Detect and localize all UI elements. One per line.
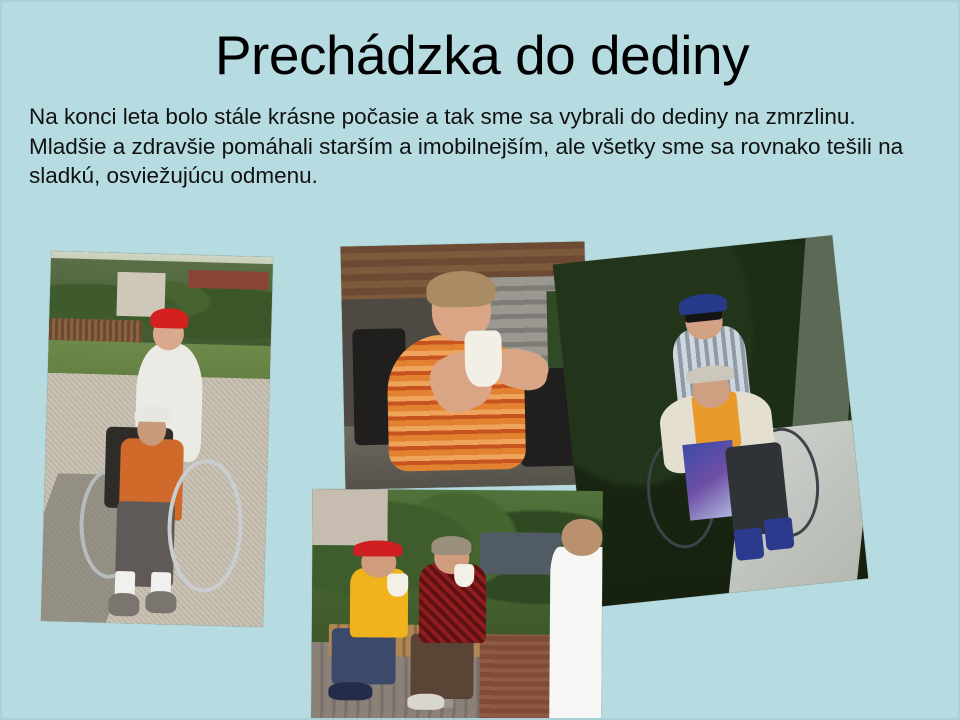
boot-right bbox=[763, 517, 794, 551]
icecream-cone-icon bbox=[464, 331, 502, 388]
photo-2-scene bbox=[340, 241, 589, 489]
sandal-right bbox=[145, 590, 177, 613]
boot-left bbox=[733, 527, 764, 561]
sandal-left bbox=[108, 593, 140, 616]
person1-shoe bbox=[329, 682, 373, 701]
person3-head bbox=[562, 519, 603, 556]
photo-walk-gravel-path[interactable] bbox=[41, 251, 273, 627]
photo-woman-eating-icecream[interactable] bbox=[340, 241, 589, 489]
photo-4-scene bbox=[311, 489, 603, 720]
person2-legs bbox=[410, 634, 474, 699]
red-cap-icon bbox=[353, 540, 402, 557]
photo-bench-icecream[interactable] bbox=[311, 489, 603, 720]
brick-wall-region bbox=[479, 634, 555, 720]
body-text: Na konci leta bolo stále krásne počasie … bbox=[29, 102, 919, 191]
person3-white-uniform bbox=[549, 546, 603, 720]
roof-shape bbox=[188, 270, 268, 291]
red-cap-icon bbox=[150, 307, 188, 328]
person2-hair bbox=[431, 536, 472, 555]
photo-1-scene bbox=[41, 251, 273, 627]
page-title: Prechádzka do dediny bbox=[2, 24, 960, 86]
icecream-cone-icon-left bbox=[387, 573, 407, 596]
slide: Prechádzka do dediny Na konci leta bolo … bbox=[0, 0, 960, 720]
building-region bbox=[312, 489, 388, 545]
woman-hair bbox=[426, 270, 495, 308]
person2-shoe bbox=[407, 694, 445, 710]
person2-red-shirt bbox=[419, 564, 486, 643]
